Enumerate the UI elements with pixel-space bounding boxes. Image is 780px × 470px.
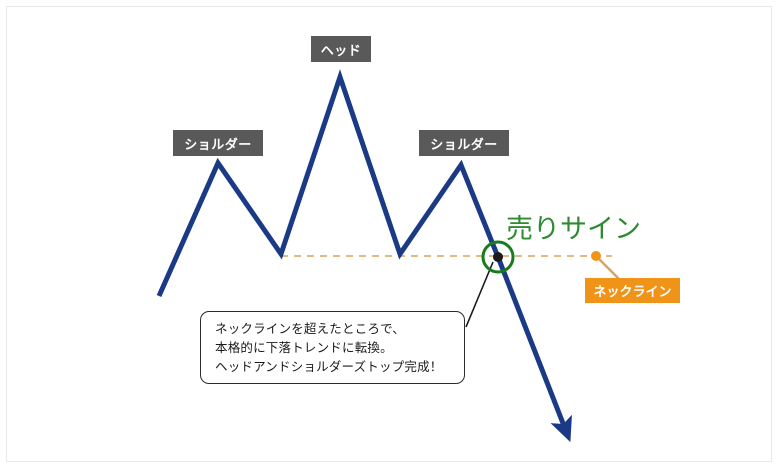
downtrend-arrow [498, 257, 566, 431]
callout-leader-line [466, 262, 493, 327]
label-chip-head-text: ヘッド [321, 40, 362, 59]
label-chip-neckline: ネックライン [585, 278, 680, 303]
callout-line-2: 本格的に下落トレンドに転換。 [215, 339, 464, 358]
chart-canvas: ヘッド ショルダー ショルダー 売りサイン ネックライン ネックラインを超えたと… [0, 0, 780, 470]
callout-line-1: ネックラインを超えたところで、 [215, 320, 464, 339]
label-chip-shoulder-left-text: ショルダー [184, 134, 252, 153]
label-chip-neckline-text: ネックライン [593, 281, 671, 300]
callout-box: ネックラインを超えたところで、 本格的に下落トレンドに転換。 ヘッドアンドショル… [200, 311, 465, 384]
label-chip-shoulder-left: ショルダー [173, 130, 263, 156]
label-chip-head: ヘッド [311, 36, 371, 62]
callout-line-3: ヘッドアンドショルダーズトップ完成！ [215, 358, 464, 377]
label-chip-shoulder-right-text: ショルダー [430, 134, 498, 153]
sell-signal-label: 売りサイン [506, 207, 641, 246]
sell-signal-dot [493, 252, 503, 262]
label-chip-shoulder-right: ショルダー [419, 130, 509, 156]
head-and-shoulders-svg [0, 0, 780, 470]
neckline-anchor-dot [591, 251, 601, 261]
price-line [159, 77, 498, 296]
